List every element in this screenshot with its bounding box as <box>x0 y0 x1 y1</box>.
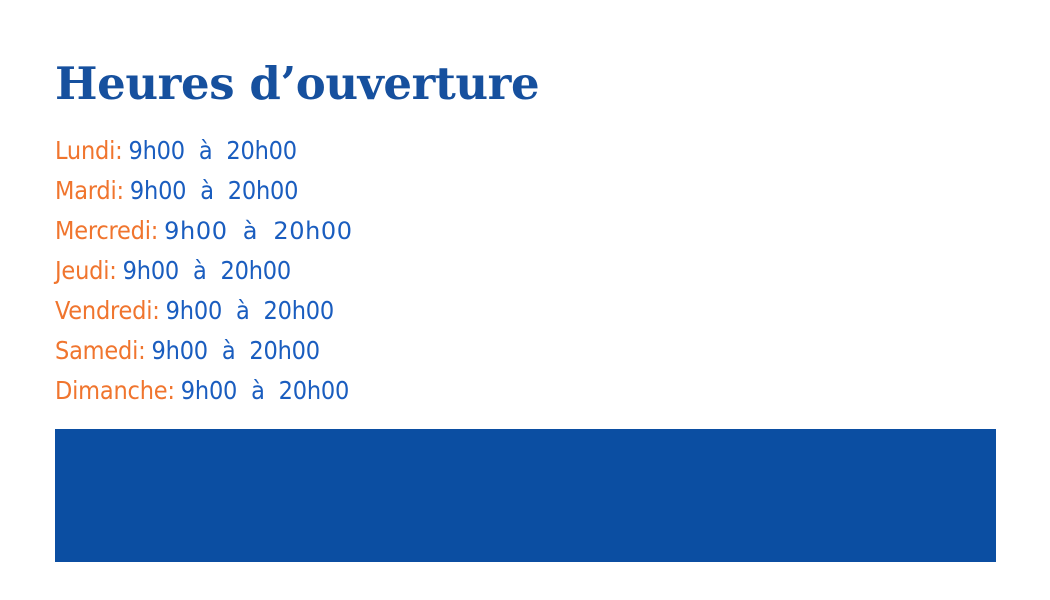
list-item: Mercredi:9h00 à 20h00 <box>55 211 353 251</box>
slide-canvas: Heures d’ouverture Lundi:9h00 à 20h00 Ma… <box>0 0 1050 600</box>
list-item: Dimanche:9h00 à 20h00 <box>55 371 353 411</box>
day-label: Mardi: <box>55 176 124 205</box>
page-title: Heures d’ouverture <box>55 58 539 110</box>
list-item: Mardi:9h00 à 20h00 <box>55 171 353 211</box>
day-hours: 9h00 à 20h00 <box>123 256 291 285</box>
opening-hours-list: Lundi:9h00 à 20h00 Mardi:9h00 à 20h00 Me… <box>55 131 353 411</box>
day-label: Vendredi: <box>55 296 160 325</box>
day-hours: 9h00 à 20h00 <box>181 376 349 405</box>
day-hours: 9h00 à 20h00 <box>166 296 334 325</box>
list-item: Jeudi:9h00 à 20h00 <box>55 251 353 291</box>
day-hours: 9h00 à 20h00 <box>129 136 297 165</box>
list-item: Lundi:9h00 à 20h00 <box>55 131 353 171</box>
day-hours: 9h00 à 20h00 <box>164 217 352 245</box>
list-item: Vendredi:9h00 à 20h00 <box>55 291 353 331</box>
day-label: Samedi: <box>55 336 146 365</box>
day-hours: 9h00 à 20h00 <box>130 176 298 205</box>
list-item: Samedi:9h00 à 20h00 <box>55 331 353 371</box>
day-label: Dimanche: <box>55 376 175 405</box>
day-hours: 9h00 à 20h00 <box>152 336 320 365</box>
content-placeholder-block <box>55 429 996 562</box>
day-label: Mercredi: <box>55 216 158 245</box>
day-label: Lundi: <box>55 136 123 165</box>
day-label: Jeudi: <box>55 256 117 285</box>
